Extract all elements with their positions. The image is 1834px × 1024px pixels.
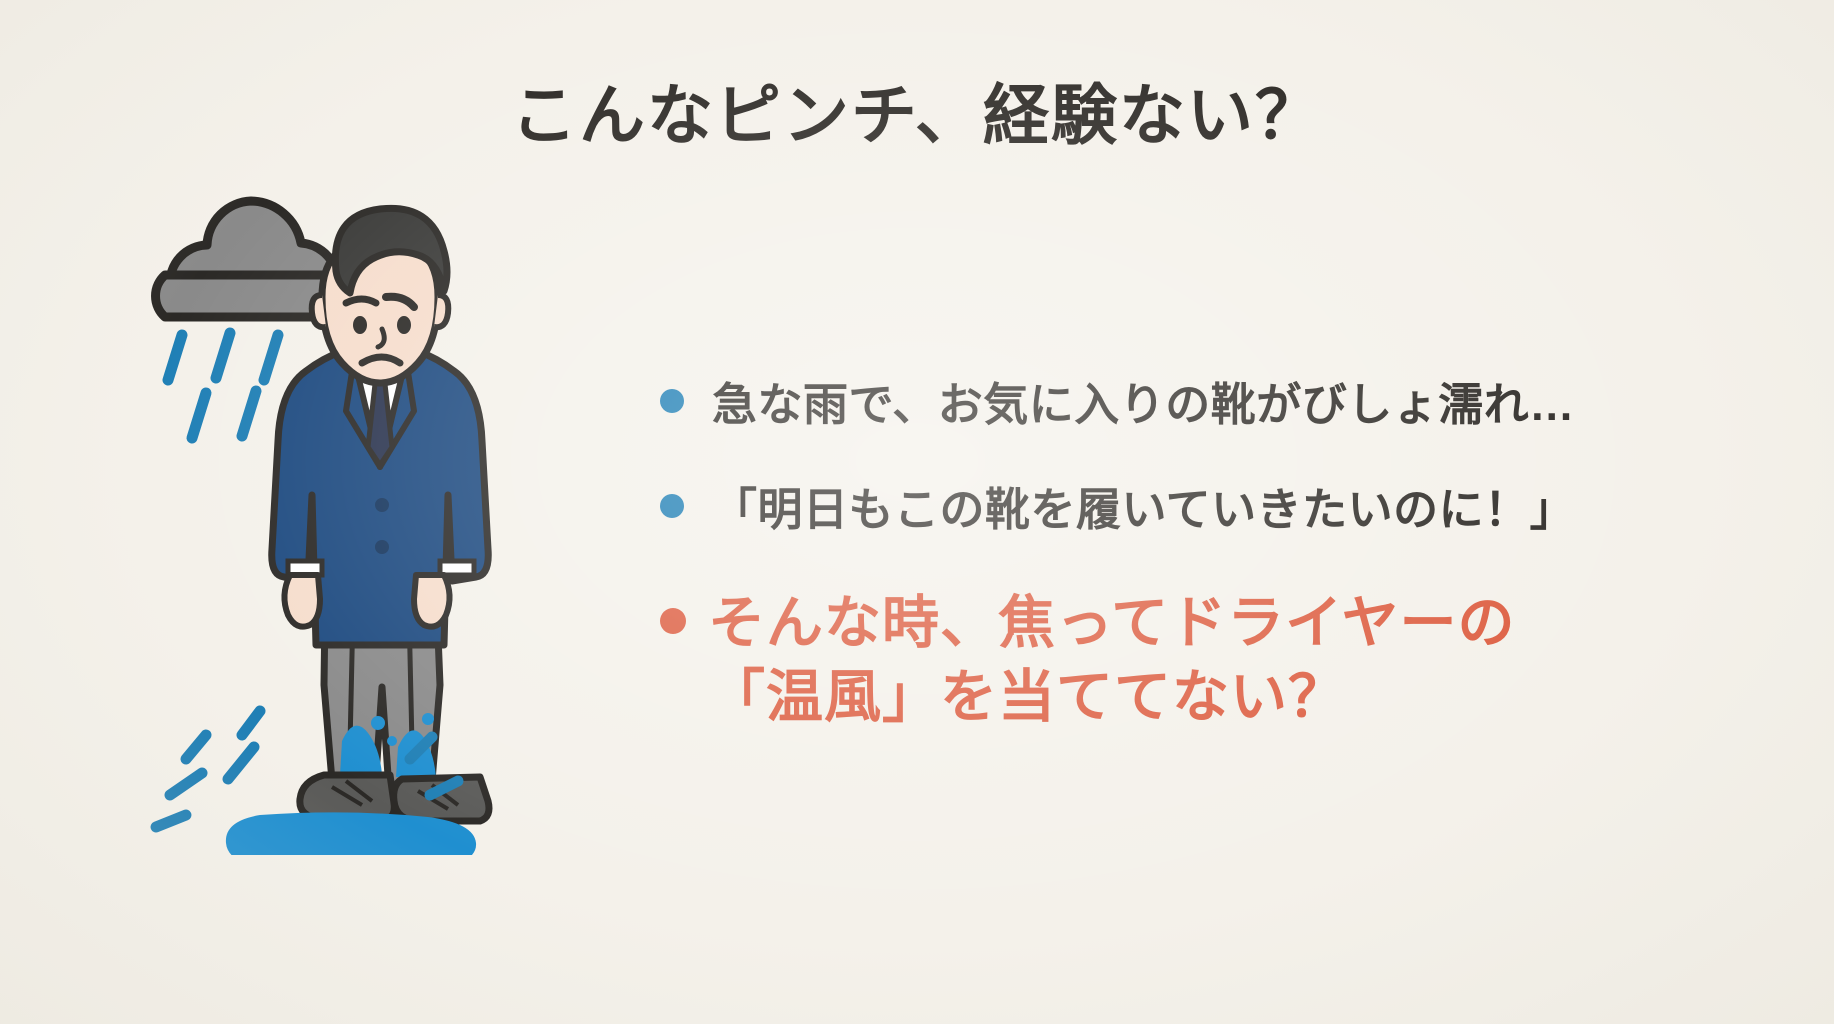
bullet-dot-accent-icon: [660, 608, 686, 634]
raindrop-icon: [168, 333, 278, 438]
slide-canvas: こんなピンチ、経験ない？: [0, 0, 1834, 1024]
bullet-dot-icon: [660, 494, 684, 518]
accent-line-1: そんな時、焦ってドライヤーの: [708, 591, 1515, 655]
bullet-text-dryer-warning: そんな時、焦ってドライヤーの 「温風」を当ててない？: [708, 586, 1515, 734]
list-item-emphasis: そんな時、焦ってドライヤーの 「温風」を当ててない？: [660, 586, 1770, 734]
bullet-list: 急な雨で、お気に入りの靴がびしょ濡れ… 「明日もこの靴を履いていきたいのに！」 …: [660, 375, 1770, 734]
accent-line-2: 「温風」を当ててない？: [708, 660, 1515, 734]
list-item: 「明日もこの靴を履いていきたいのに！」: [660, 480, 1770, 539]
bullet-text-rain: 急な雨で、お気に入りの靴がびしょ濡れ…: [712, 375, 1575, 434]
water-puddle: [226, 812, 476, 855]
list-item: 急な雨で、お気に入りの靴がびしょ濡れ…: [660, 375, 1770, 434]
bullet-text-tomorrow: 「明日もこの靴を履いていきたいのに！」: [712, 480, 1575, 539]
page-title: こんなピンチ、経験ない？: [0, 62, 1834, 158]
illustration-rain-and-businessman: [110, 175, 630, 855]
bullet-dot-icon: [660, 389, 684, 413]
